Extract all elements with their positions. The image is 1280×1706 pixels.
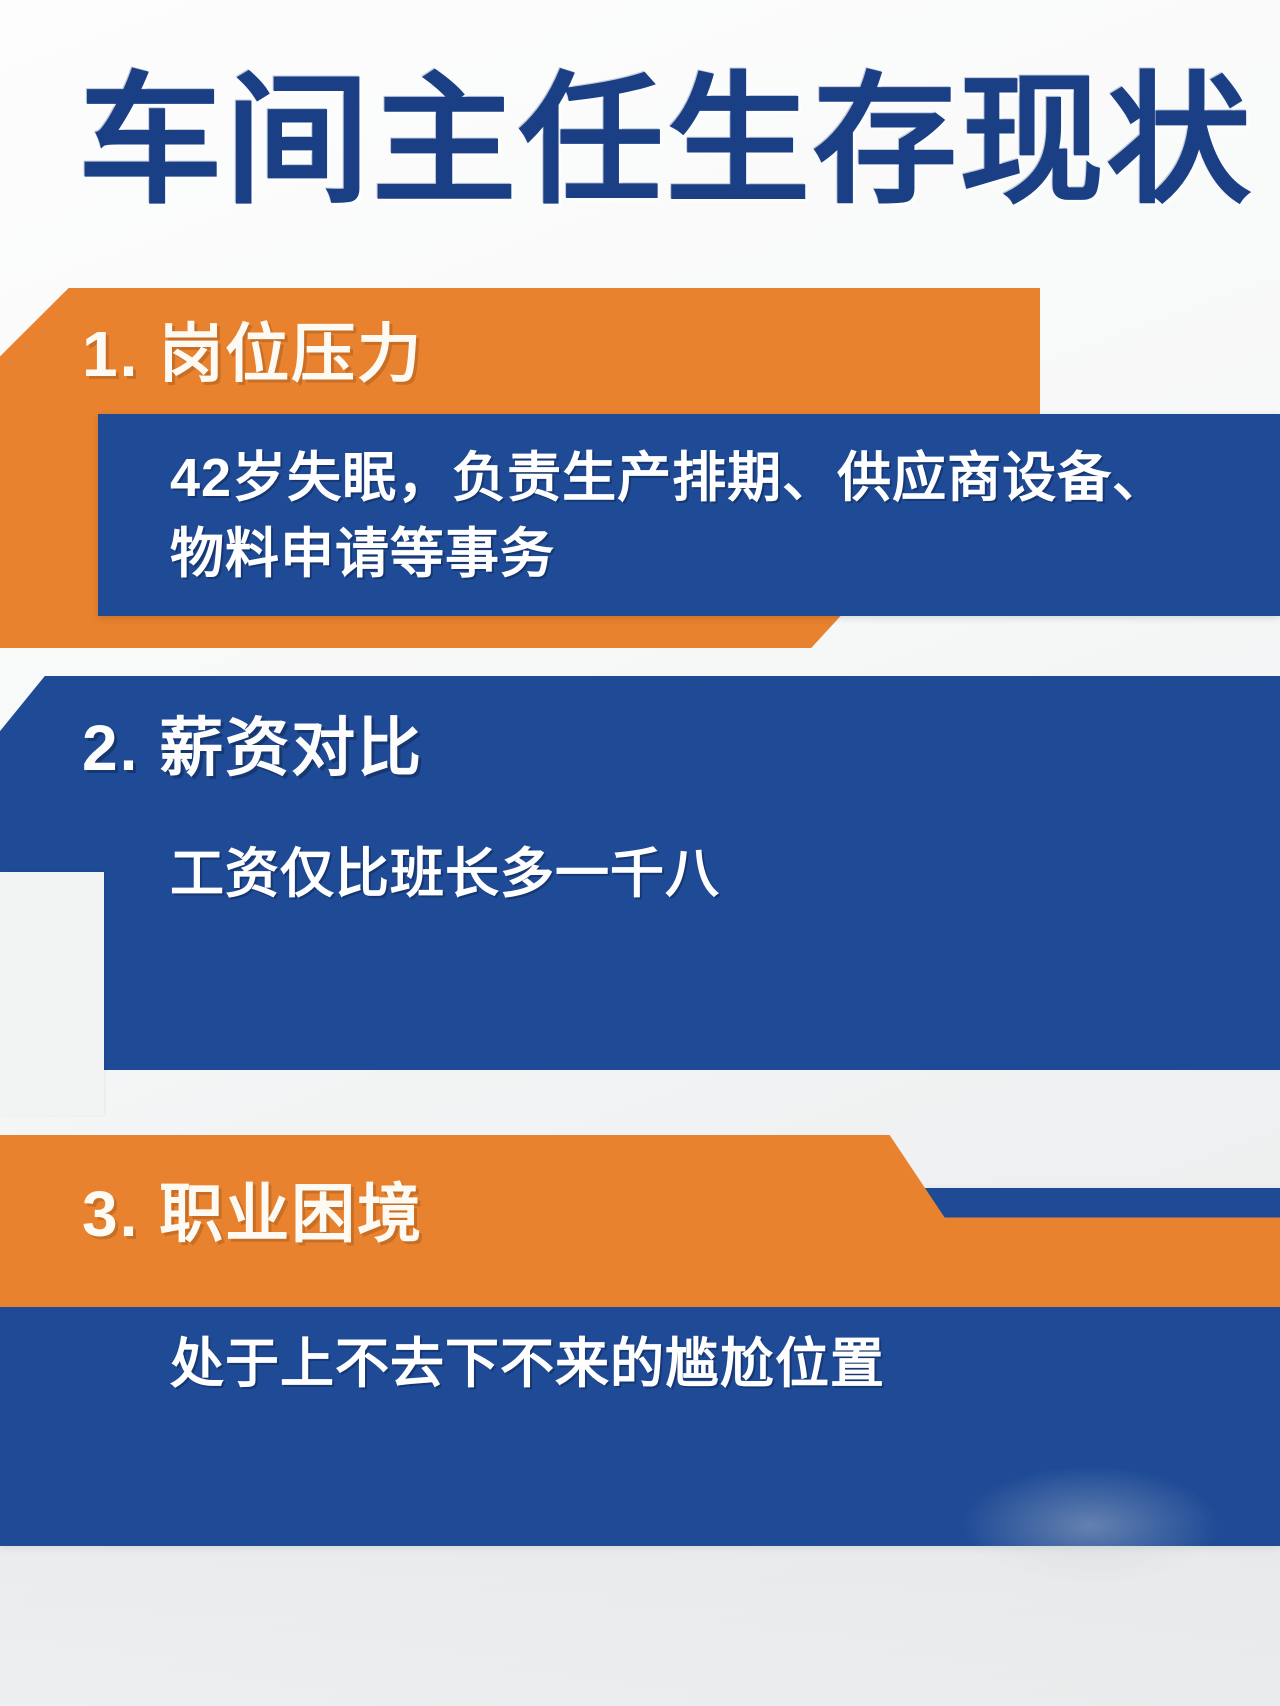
- paper-shading: [0, 1546, 1280, 1706]
- section-3-heading: 3. 职业困境: [82, 1178, 423, 1250]
- section-2-heading: 2. 薪资对比: [82, 712, 423, 784]
- section-1-heading: 1. 岗位压力: [82, 318, 423, 390]
- section-3-body-text: 处于上不去下不来的尴尬位置: [170, 1326, 885, 1402]
- section-2-left-notch: [0, 872, 104, 1115]
- poster-canvas: 车间主任生存现状 1. 岗位压力 42岁失眠，负责生产排期、供应商设备、物料申请…: [0, 0, 1280, 1706]
- section-2-body-text: 工资仅比班长多一千八: [170, 836, 720, 912]
- page-title: 车间主任生存现状: [78, 52, 1220, 232]
- section-1-body-text: 42岁失眠，负责生产排期、供应商设备、物料申请等事务: [170, 440, 1170, 592]
